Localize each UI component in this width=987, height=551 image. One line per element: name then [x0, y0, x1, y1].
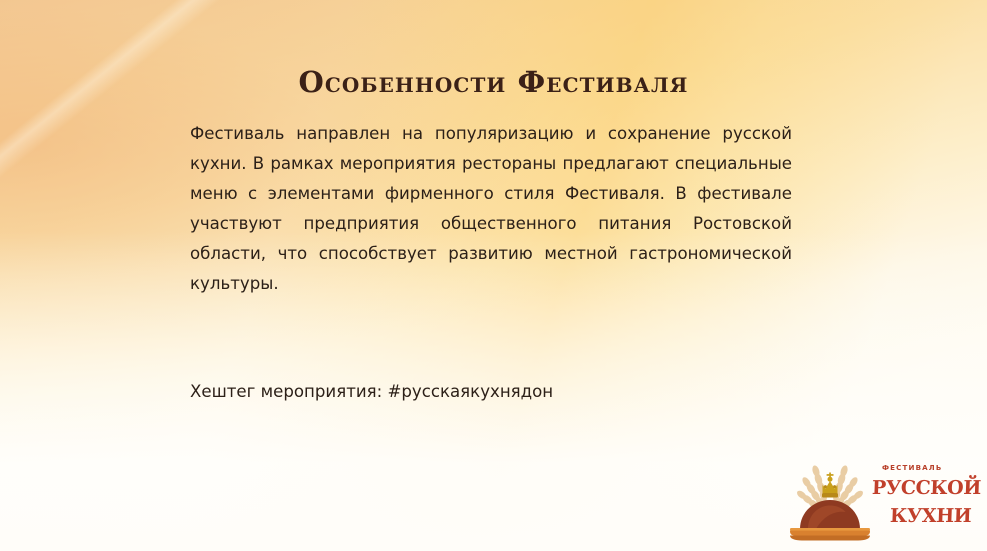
page-title: Особенности Фестиваля: [0, 65, 987, 99]
body-paragraph: Фестиваль направлен на популяризацию и с…: [190, 119, 792, 299]
logo-word-kuhni: кухни: [889, 499, 971, 528]
slide-canvas: Особенности Фестиваля Фестиваль направле…: [0, 0, 987, 551]
cloche-dome: [800, 500, 860, 529]
festival-logo: ФЕСТИВАЛЬ русской кухни: [778, 455, 978, 541]
platter: [790, 528, 870, 541]
crown-icon: [822, 473, 838, 498]
body-text-block: Фестиваль направлен на популяризацию и с…: [190, 119, 792, 299]
hashtag-line: Хештег мероприятия: #русскаякухнядон: [190, 379, 553, 405]
crowned-cloche-with-wheat-icon: [778, 455, 882, 541]
logo-word-russkoy: русской: [871, 471, 981, 500]
